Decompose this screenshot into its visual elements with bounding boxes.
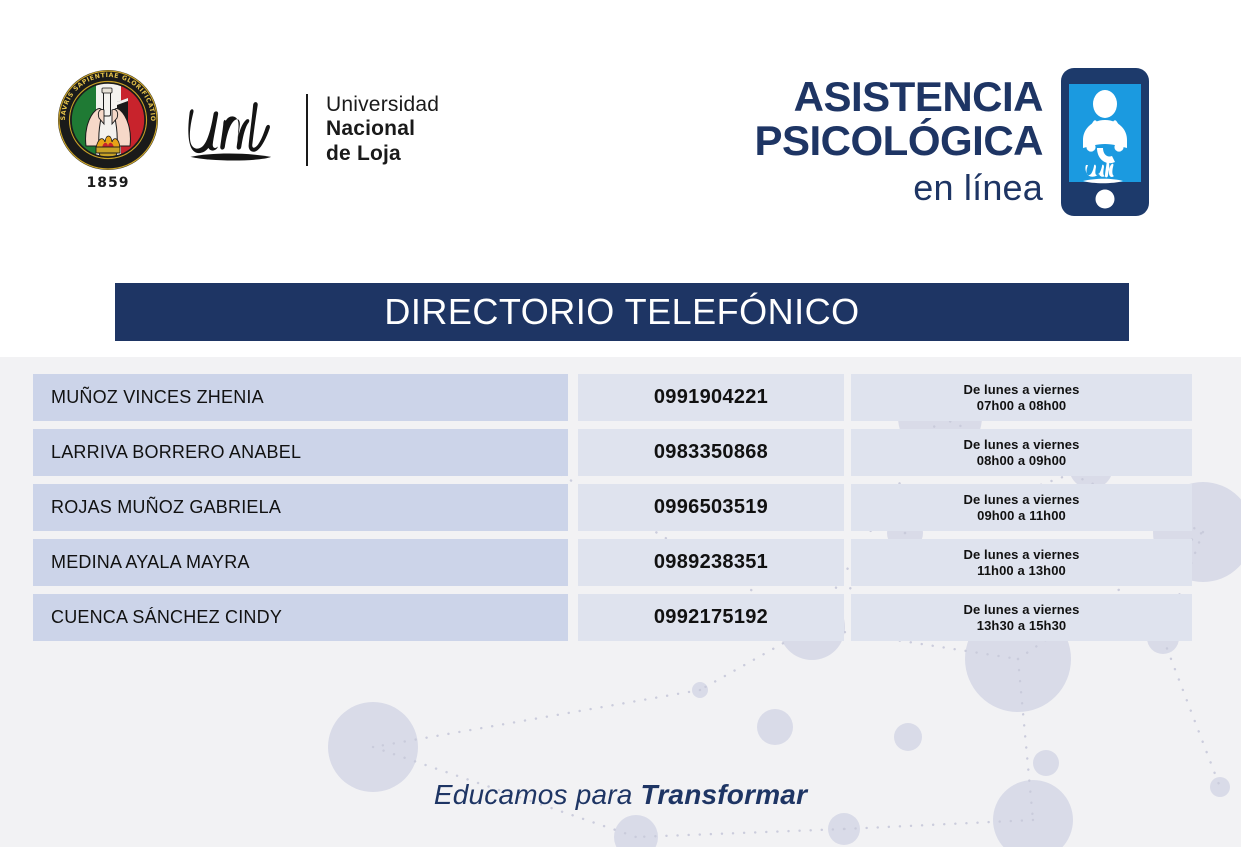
poster-canvas: IN THESAVRIS SAPIENTIAE GLORIFICATIO VIT… bbox=[0, 0, 1241, 847]
slogan-regular-part: Educamos para bbox=[434, 779, 641, 810]
cell-name: CUENCA SÁNCHEZ CINDY bbox=[33, 594, 568, 641]
contact-name: LARRIVA BORRERO ANABEL bbox=[51, 442, 301, 463]
poster-header: IN THESAVRIS SAPIENTIAE GLORIFICATIO VIT… bbox=[0, 0, 1241, 270]
cell-name: ROJAS MUÑOZ GABRIELA bbox=[33, 484, 568, 531]
smartphone-psychologist-icon bbox=[1057, 66, 1153, 218]
schedule-days: De lunes a viernes bbox=[964, 437, 1080, 452]
schedule-hours: 08h00 a 09h00 bbox=[977, 453, 1066, 468]
cell-schedule: De lunes a viernes 09h00 a 11h00 bbox=[851, 484, 1192, 531]
schedule-hours: 09h00 a 11h00 bbox=[977, 508, 1066, 523]
campaign-title-block: ASISTENCIA PSICOLÓGICA en línea bbox=[754, 66, 1153, 218]
schedule-days: De lunes a viernes bbox=[964, 547, 1080, 562]
campaign-line-3: en línea bbox=[754, 170, 1043, 206]
cell-schedule: De lunes a viernes 11h00 a 13h00 bbox=[851, 539, 1192, 586]
unl-crest-icon: IN THESAVRIS SAPIENTIAE GLORIFICATIO VIT… bbox=[56, 68, 160, 172]
campaign-text: ASISTENCIA PSICOLÓGICA en línea bbox=[754, 66, 1043, 206]
footer-slogan: Educamos para Transformar bbox=[0, 779, 1241, 811]
cell-name: MUÑOZ VINCES ZHENIA bbox=[33, 374, 568, 421]
cell-schedule: De lunes a viernes 07h00 a 08h00 bbox=[851, 374, 1192, 421]
unl-crest-block: IN THESAVRIS SAPIENTIAE GLORIFICATIO VIT… bbox=[52, 68, 164, 191]
schedule-hours: 11h00 a 13h00 bbox=[977, 563, 1066, 578]
table-row: ROJAS MUÑOZ GABRIELA 0996503519 De lunes… bbox=[33, 484, 1193, 531]
contact-name: MEDINA AYALA MAYRA bbox=[51, 552, 250, 573]
table-row: MUÑOZ VINCES ZHENIA 0991904221 De lunes … bbox=[33, 374, 1193, 421]
unl-name-line2: Nacional bbox=[326, 117, 439, 141]
contact-phone: 0996503519 bbox=[654, 496, 768, 519]
cell-schedule: De lunes a viernes 13h30 a 15h30 bbox=[851, 594, 1192, 641]
phone-directory-table: MUÑOZ VINCES ZHENIA 0991904221 De lunes … bbox=[33, 374, 1193, 649]
unl-institution-name: Universidad Nacional de Loja bbox=[326, 93, 439, 166]
cell-phone[interactable]: 0992175192 bbox=[578, 594, 844, 641]
lockup-divider bbox=[306, 94, 308, 166]
contact-phone: 0991904221 bbox=[654, 386, 768, 409]
unl-wordmark-block: Universidad Nacional de Loja bbox=[180, 92, 439, 168]
cell-name: LARRIVA BORRERO ANABEL bbox=[33, 429, 568, 476]
cell-name: MEDINA AYALA MAYRA bbox=[33, 539, 568, 586]
schedule-hours: 07h00 a 08h00 bbox=[977, 398, 1066, 413]
contact-name: MUÑOZ VINCES ZHENIA bbox=[51, 387, 264, 408]
schedule-days: De lunes a viernes bbox=[964, 602, 1080, 617]
table-row: CUENCA SÁNCHEZ CINDY 0992175192 De lunes… bbox=[33, 594, 1193, 641]
cell-phone[interactable]: 0996503519 bbox=[578, 484, 844, 531]
schedule-days: De lunes a viernes bbox=[964, 382, 1080, 397]
banner-title: DIRECTORIO TELEFÓNICO bbox=[384, 291, 859, 333]
unl-logo-lockup: IN THESAVRIS SAPIENTIAE GLORIFICATIO VIT… bbox=[52, 68, 439, 191]
campaign-line-1: ASISTENCIA bbox=[754, 76, 1043, 118]
contact-name: ROJAS MUÑOZ GABRIELA bbox=[51, 497, 281, 518]
table-row: MEDINA AYALA MAYRA 0989238351 De lunes a… bbox=[33, 539, 1193, 586]
directory-banner: DIRECTORIO TELEFÓNICO bbox=[115, 283, 1129, 341]
cell-phone[interactable]: 0989238351 bbox=[578, 539, 844, 586]
schedule-days: De lunes a viernes bbox=[964, 492, 1080, 507]
unl-name-line1: Universidad bbox=[326, 93, 439, 117]
campaign-line-2: PSICOLÓGICA bbox=[754, 120, 1043, 162]
slogan-bold-part: Transformar bbox=[641, 779, 808, 810]
contact-name: CUENCA SÁNCHEZ CINDY bbox=[51, 607, 282, 628]
schedule-hours: 13h30 a 15h30 bbox=[977, 618, 1066, 633]
cell-phone[interactable]: 0983350868 bbox=[578, 429, 844, 476]
cell-phone[interactable]: 0991904221 bbox=[578, 374, 844, 421]
cell-schedule: De lunes a viernes 08h00 a 09h00 bbox=[851, 429, 1192, 476]
contact-phone: 0992175192 bbox=[654, 606, 768, 629]
table-row: LARRIVA BORRERO ANABEL 0983350868 De lun… bbox=[33, 429, 1193, 476]
unl-script-wordmark-icon bbox=[180, 92, 292, 168]
unl-name-line3: de Loja bbox=[326, 142, 439, 166]
contact-phone: 0989238351 bbox=[654, 551, 768, 574]
contact-phone: 0983350868 bbox=[654, 441, 768, 464]
crest-year-label: 1859 bbox=[87, 175, 130, 191]
